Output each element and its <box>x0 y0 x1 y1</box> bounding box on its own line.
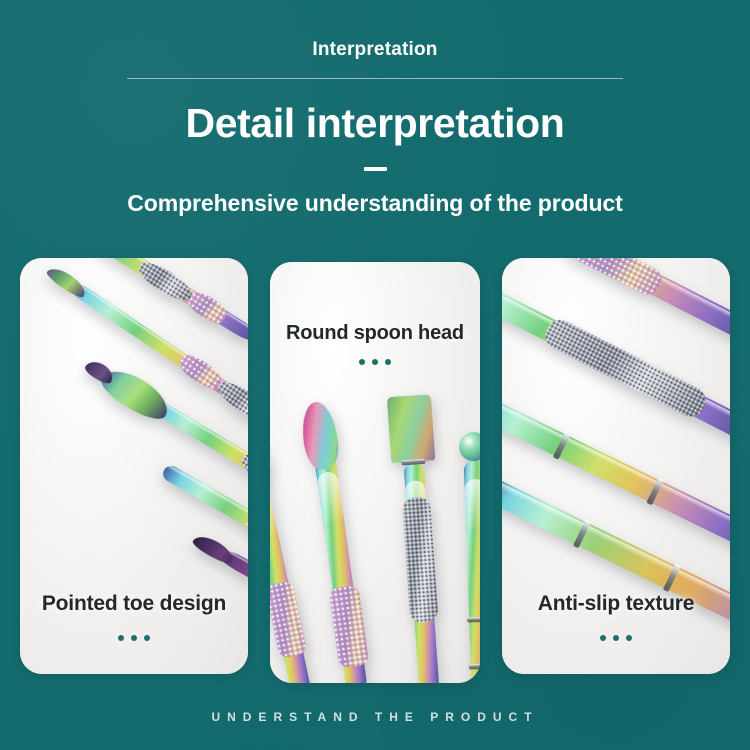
card-dots-pointed-toe <box>20 635 248 641</box>
dot <box>372 359 378 365</box>
card-dots-anti-slip <box>502 635 730 641</box>
feature-card-anti-slip[interactable]: Anti-slip texture <box>502 258 730 674</box>
dot <box>600 635 606 641</box>
dot <box>385 359 391 365</box>
dot <box>359 359 365 365</box>
dot <box>118 635 124 641</box>
page-title: Detail interpretation <box>0 99 750 147</box>
card-label-round-spoon: Round spoon head <box>270 322 480 345</box>
footer-tagline: UNDERSTAND THE PRODUCT <box>0 710 750 724</box>
header-divider <box>127 78 623 79</box>
card-label-anti-slip: Anti-slip texture <box>502 592 730 616</box>
dot <box>131 635 137 641</box>
card-label-pointed-toe: Pointed toe design <box>20 592 248 616</box>
dot <box>626 635 632 641</box>
dot <box>613 635 619 641</box>
card-dots-round-spoon <box>270 359 480 365</box>
feature-card-round-spoon[interactable]: Round spoon head <box>270 262 480 683</box>
promo-page: Interpretation Detail interpretation Com… <box>0 0 750 750</box>
header: Interpretation Detail interpretation Com… <box>0 0 750 218</box>
tool-ball-end <box>420 410 480 683</box>
dot <box>144 635 150 641</box>
page-subtitle: Comprehensive understanding of the produ… <box>0 188 750 218</box>
title-accent-dash <box>364 167 387 171</box>
feature-card-pointed-toe[interactable]: Pointed toe design <box>20 258 248 674</box>
eyebrow-text: Interpretation <box>0 38 750 62</box>
